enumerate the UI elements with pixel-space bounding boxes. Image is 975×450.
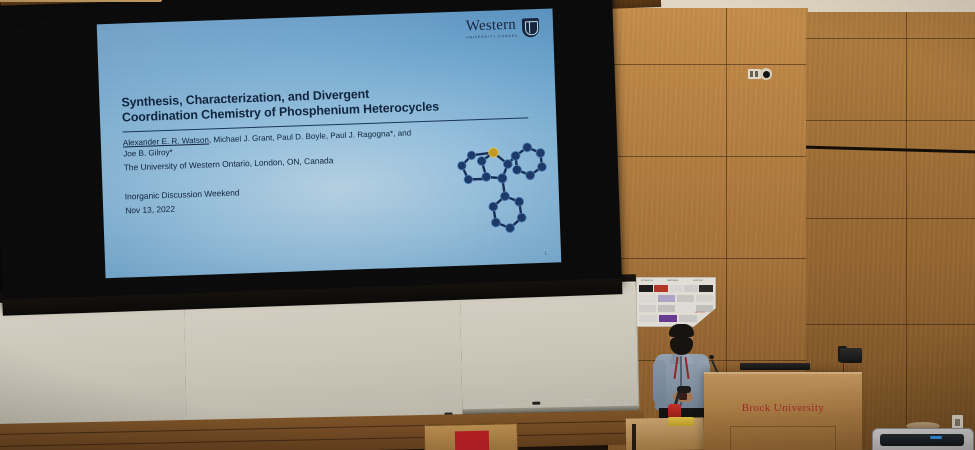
confidence-monitor	[740, 363, 810, 370]
lectern-podium: Brock University	[704, 372, 862, 450]
table-leg	[632, 424, 636, 450]
western-wordmark: Western	[466, 18, 519, 35]
presenter-hair	[669, 324, 694, 337]
presenter-beard	[670, 337, 693, 355]
projection-screen: Western UNIVERSITY·CANADA Synthesis, Cha…	[0, 0, 622, 306]
whiteboard-marker[interactable]	[584, 398, 592, 401]
phosphorus-atom	[488, 148, 498, 158]
wall-telephone[interactable]	[840, 348, 862, 363]
presenter-arm-left	[653, 360, 666, 404]
whiteboard-left[interactable]	[0, 299, 188, 429]
yellow-object-on-table	[668, 417, 694, 426]
presentation-slide: Western UNIVERSITY·CANADA Synthesis, Cha…	[97, 8, 562, 278]
equipment-led-indicator	[930, 436, 942, 439]
podium-front-panel	[730, 426, 836, 450]
box-red-label	[455, 431, 489, 450]
podium-top-surface	[0, 0, 162, 2]
microphone-head	[709, 355, 714, 359]
author-presenting: Alexander E. R. Watson	[123, 136, 209, 148]
western-logo-subtitle: UNIVERSITY·CANADA	[466, 35, 518, 40]
wooden-box	[424, 423, 519, 450]
presentation-clicker[interactable]	[679, 393, 687, 400]
whiteboard-eraser[interactable]	[496, 404, 504, 407]
equipment-display	[880, 434, 964, 446]
whiteboard-right[interactable]	[460, 282, 640, 412]
screenshot-root: Western UNIVERSITY·CANADA Synthesis, Cha…	[0, 0, 975, 450]
outlet-slot	[955, 419, 960, 426]
western-shield-icon	[522, 18, 540, 38]
podium-brand-text: Brock University	[704, 402, 862, 414]
lamp-head	[677, 386, 691, 393]
western-university-logo: Western UNIVERSITY·CANADA	[466, 17, 540, 40]
slide-date: Nov 13, 2022	[125, 204, 175, 216]
molecular-structure-figure	[441, 129, 553, 251]
whiteboard-marker[interactable]	[532, 402, 540, 405]
slide-page-number: 1	[544, 251, 547, 257]
wall-camera-sensor-icon	[748, 68, 770, 80]
whiteboard-center[interactable]	[184, 289, 464, 423]
slide-event-name: Inorganic Discussion Weekend	[125, 187, 240, 201]
